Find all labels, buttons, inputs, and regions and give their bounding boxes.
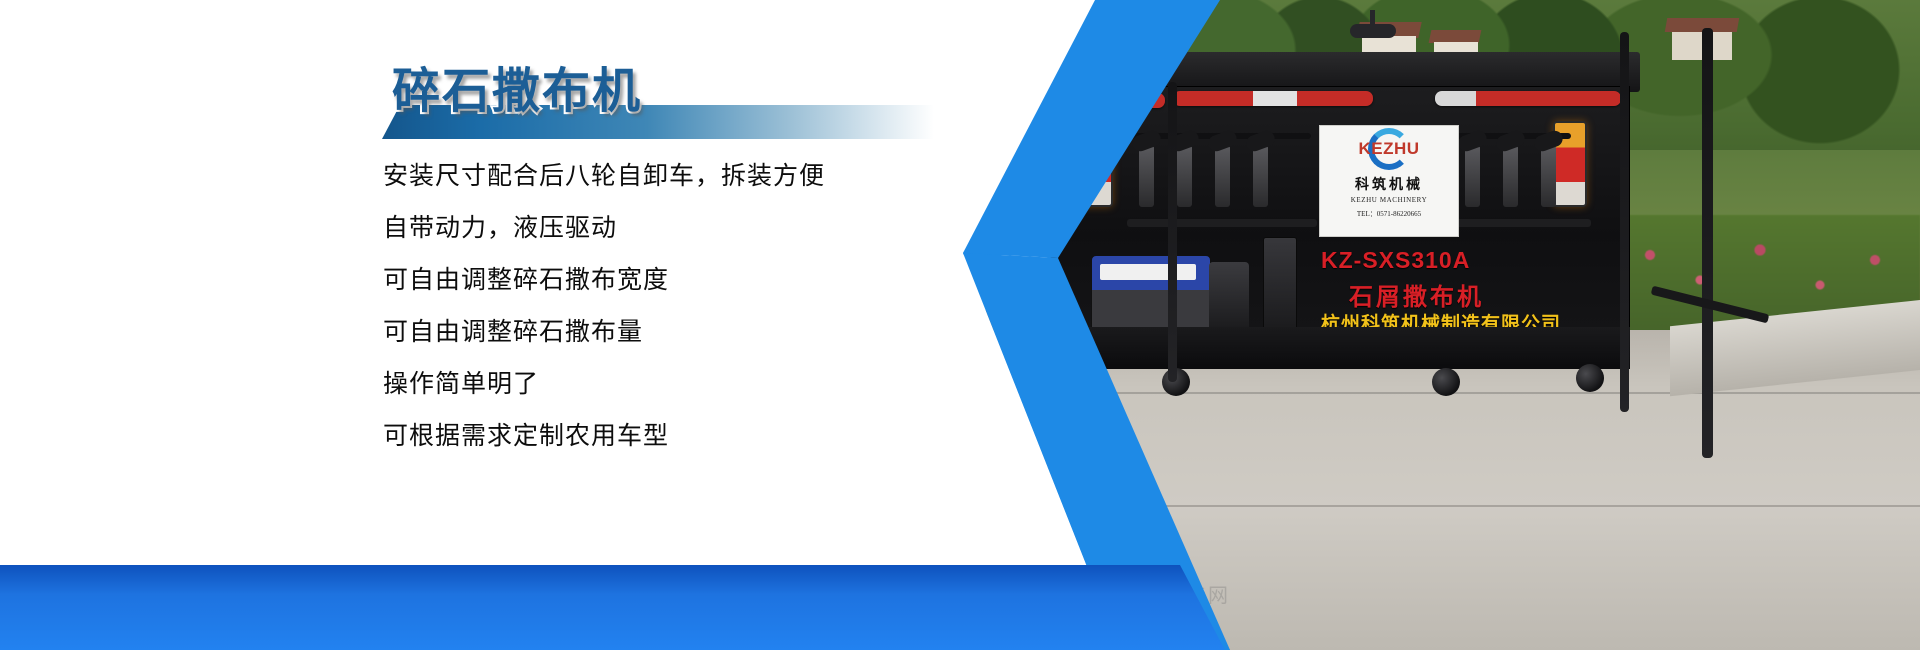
- feature-item: 安装尺寸配合后八轮自卸车，拆装方便: [383, 150, 943, 202]
- warning-stripe: [1435, 91, 1621, 106]
- company-name-en: KEZHU MACHINERY: [1320, 196, 1458, 204]
- page-title: 碎石撒布机: [392, 68, 642, 116]
- feature-item: 可自由调整碎石撒布宽度: [383, 254, 943, 306]
- bottom-blue-bar: [0, 565, 1225, 650]
- feature-list: 安装尺寸配合后八轮自卸车，拆装方便 自带动力，液压驱动 可自由调整碎石撒布宽度 …: [383, 150, 943, 462]
- left-panel: 碎石撒布机 安装尺寸配合后八轮自卸车，拆装方便 自带动力，液压驱动 可自由调整碎…: [0, 0, 1020, 650]
- product-decal: 石屑撒布机: [1349, 277, 1484, 312]
- feature-item: 操作简单明了: [383, 358, 943, 410]
- logo-text: KEZHU: [1358, 139, 1419, 159]
- control-valve: [1503, 145, 1518, 207]
- caster-wheel: [1432, 368, 1460, 396]
- model-decal: KZ-SXS310A: [1321, 247, 1551, 274]
- kezhu-logo: KEZHU: [1320, 126, 1458, 172]
- support-mast: [1702, 28, 1713, 458]
- control-box: [1263, 237, 1297, 337]
- company-name-cn: 科筑机械: [1320, 174, 1458, 194]
- brand-sign: KEZHU 科筑机械 KEZHU MACHINERY TEL：0571-8622…: [1319, 125, 1459, 237]
- control-valve: [1465, 145, 1480, 207]
- control-valve: [1541, 145, 1556, 207]
- support-mast: [1620, 32, 1629, 412]
- company-tel: TEL：0571-86220665: [1320, 209, 1458, 219]
- feature-item: 可自由调整碎石撒布量: [383, 306, 943, 358]
- promo-banner: KEZHU 科筑机械 KEZHU MACHINERY TEL：0571-8622…: [0, 0, 1920, 650]
- feature-item: 自带动力，液压驱动: [383, 202, 943, 254]
- feature-item: 可根据需求定制农用车型: [383, 410, 943, 462]
- caster-wheel: [1576, 364, 1604, 392]
- beacon: [1350, 24, 1396, 38]
